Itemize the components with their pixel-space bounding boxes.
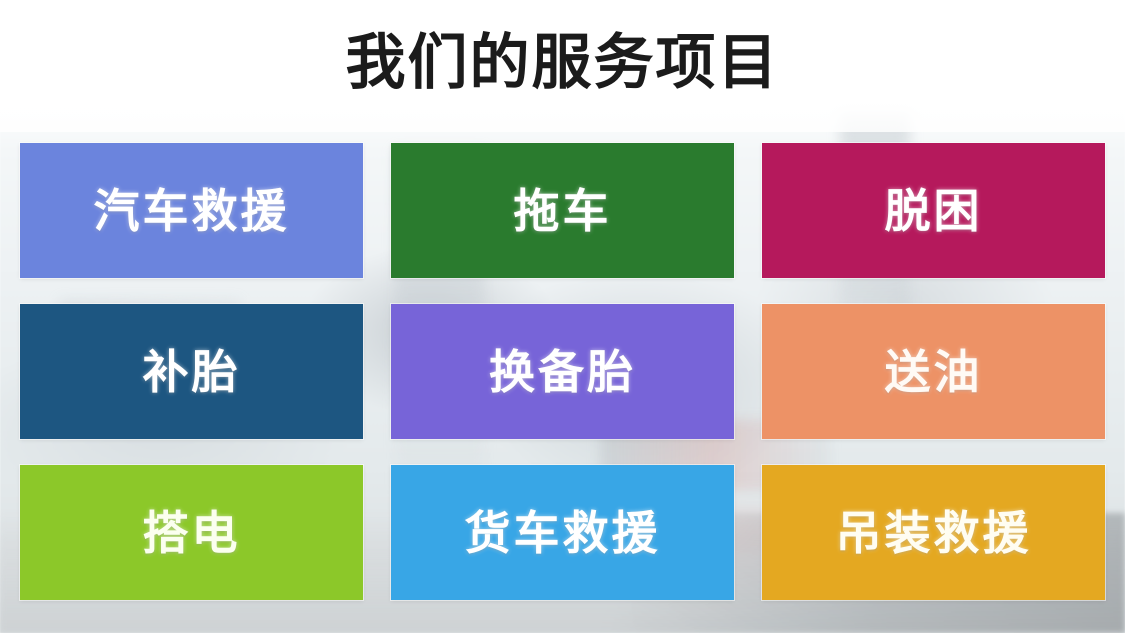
service-tile-fuel-delivery[interactable]: 送油 [762, 304, 1105, 439]
service-tile-truck-rescue[interactable]: 货车救援 [391, 465, 734, 600]
service-tile-extrication[interactable]: 脱困 [762, 143, 1105, 278]
service-tile-label: 补胎 [143, 349, 241, 395]
service-tile-car-rescue[interactable]: 汽车救援 [20, 143, 363, 278]
service-tile-label: 换备胎 [489, 349, 636, 395]
service-tile-label: 汽车救援 [94, 188, 290, 234]
page-title: 我们的服务项目 [346, 33, 780, 99]
service-tile-crane-lift-rescue[interactable]: 吊装救援 [762, 465, 1105, 600]
service-tile-spare-tire-change[interactable]: 换备胎 [391, 304, 734, 439]
service-tile-label: 搭电 [143, 510, 241, 556]
service-tile-towing[interactable]: 拖车 [391, 143, 734, 278]
title-band: 我们的服务项目 [0, 0, 1125, 132]
service-tile-label: 吊装救援 [836, 510, 1032, 556]
service-tile-label: 货车救援 [465, 510, 661, 556]
service-tile-label: 拖车 [514, 188, 612, 234]
service-poster: 我们的服务项目 汽车救援拖车脱困补胎换备胎送油搭电货车救援吊装救援 [0, 0, 1125, 633]
service-tile-label: 脱困 [885, 188, 983, 234]
service-tile-label: 送油 [885, 349, 983, 395]
service-tile-jump-start[interactable]: 搭电 [20, 465, 363, 600]
service-tile-grid: 汽车救援拖车脱困补胎换备胎送油搭电货车救援吊装救援 [20, 143, 1105, 601]
service-tile-tire-repair[interactable]: 补胎 [20, 304, 363, 439]
